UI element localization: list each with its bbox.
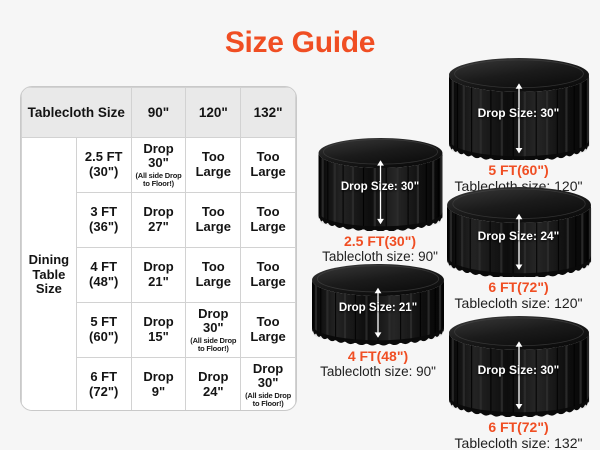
tablecloth-size-example: Drop Size: 30"2.5 FT(30")Tablecloth size… — [305, 136, 455, 264]
table-size-line2: (48") — [89, 274, 118, 289]
header-col-2: 132" — [241, 88, 296, 138]
table-size-caption: 6 FT(72") — [437, 419, 600, 435]
table-size-cell: 3 FT(36") — [76, 193, 131, 248]
table-size-caption: 2.5 FT(30") — [305, 233, 455, 249]
table-size-line2: (72") — [89, 384, 118, 399]
drop-cell-line2: Large — [250, 329, 285, 344]
drop-cell: Drop15" — [131, 303, 186, 358]
drop-cell-line2: Large — [196, 274, 231, 289]
tablecloth-illustration — [309, 136, 452, 231]
tablecloth-illustration — [438, 185, 600, 277]
drop-cell-note: (All side Drop to Floor!) — [133, 172, 185, 189]
drop-cell-line1: Drop — [143, 369, 173, 384]
tablecloth-illustration — [439, 56, 599, 160]
drop-cell: Drop9" — [131, 358, 186, 412]
drop-cell-line1: Too — [202, 204, 225, 219]
drop-cell-line2: 30" — [203, 320, 224, 335]
table-size-cell: 4 FT(48") — [76, 248, 131, 303]
page-title: Size Guide — [0, 26, 600, 60]
drop-cell: TooLarge — [241, 248, 296, 303]
drop-cell-line1: Drop — [198, 369, 228, 384]
header-col-1: 120" — [186, 88, 241, 138]
table-size-line1: 4 FT — [90, 259, 117, 274]
drop-cell-line2: Large — [196, 219, 231, 234]
table-size-cell: 6 FT(72") — [76, 358, 131, 412]
header-col-0: 90" — [131, 88, 186, 138]
drop-cell-note: (All side Drop to Floor!) — [242, 392, 294, 409]
drop-cell-line1: Drop — [143, 259, 173, 274]
table-size-line1: 3 FT — [90, 204, 117, 219]
tablecloth-size-caption: Tablecloth size: 120" — [437, 295, 600, 311]
drop-cell-line2: 15" — [148, 329, 169, 344]
tablecloth-size-caption: Tablecloth size: 90" — [303, 364, 453, 379]
drop-cell-line2: 21" — [148, 274, 169, 289]
table-size-line1: 6 FT — [90, 369, 117, 384]
drop-cell-line1: Drop — [143, 204, 173, 219]
drop-cell-line1: Drop — [143, 314, 173, 329]
table-size-caption: 5 FT(60") — [437, 162, 600, 178]
drop-cell-line2: Large — [250, 164, 285, 179]
drop-cell-line1: Too — [257, 149, 280, 164]
header-tablecloth-size: Tablecloth Size — [22, 88, 132, 138]
drop-cell: Drop24" — [186, 358, 241, 412]
tablecloth-size-example: Drop Size: 24"6 FT(72")Tablecloth size: … — [437, 185, 600, 311]
tablecloth-illustration — [439, 314, 599, 417]
table-size-cell: 2.5 FT(30") — [76, 138, 131, 193]
table-size-cell: 5 FT(60") — [76, 303, 131, 358]
table-header-row: Tablecloth Size90"120"132" — [22, 88, 296, 138]
drop-cell: TooLarge — [241, 138, 296, 193]
tablecloth-illustration — [305, 262, 451, 346]
drop-cell: TooLarge — [186, 138, 241, 193]
table-row: Dining Table Size2.5 FT(30")Drop30"(All … — [22, 138, 296, 193]
drop-cell: Drop27" — [131, 193, 186, 248]
drop-cell-line1: Too — [257, 314, 280, 329]
drop-cell-line1: Drop — [143, 141, 173, 156]
drop-cell: TooLarge — [241, 193, 296, 248]
row-group-label: Dining Table Size — [22, 138, 77, 412]
drop-cell-line1: Drop — [198, 306, 228, 321]
drop-cell-line2: 30" — [258, 375, 279, 390]
table-size-line2: (60") — [89, 329, 118, 344]
tablecloth-size-example: Drop Size: 30"5 FT(60")Tablecloth size: … — [437, 56, 600, 194]
drop-cell-line2: Large — [250, 274, 285, 289]
drop-cell-line2: 9" — [152, 384, 165, 399]
drop-cell-line1: Too — [257, 259, 280, 274]
drop-cell-line1: Drop — [253, 361, 283, 376]
drop-cell: TooLarge — [186, 193, 241, 248]
table-size-line2: (36") — [89, 219, 118, 234]
drop-cell-note: (All side Drop to Floor!) — [187, 337, 239, 354]
tablecloth-size-caption: Tablecloth size: 132" — [437, 435, 600, 450]
drop-cell: Drop21" — [131, 248, 186, 303]
drop-cell-line2: 30" — [148, 155, 169, 170]
drop-cell-line1: Too — [257, 204, 280, 219]
drop-cell-line2: Large — [196, 164, 231, 179]
drop-cell: TooLarge — [186, 248, 241, 303]
drop-cell: TooLarge — [241, 303, 296, 358]
drop-cell-line1: Too — [202, 259, 225, 274]
table-size-line1: 5 FT — [90, 314, 117, 329]
drop-cell: Drop30"(All side Drop to Floor!) — [241, 358, 296, 412]
drop-cell: Drop30"(All side Drop to Floor!) — [186, 303, 241, 358]
size-guide-page: Size Guide Tablecloth Size90"120"132"Din… — [0, 0, 600, 450]
drop-cell-line2: Large — [250, 219, 285, 234]
tablecloth-size-example: Drop Size: 30"6 FT(72")Tablecloth size: … — [437, 314, 600, 450]
drop-cell-line2: 27" — [148, 219, 169, 234]
sizes-table: Tablecloth Size90"120"132"Dining Table S… — [21, 87, 296, 411]
tablecloth-size-example: Drop Size: 21"4 FT(48")Tablecloth size: … — [303, 262, 453, 379]
drop-cell: Drop30"(All side Drop to Floor!) — [131, 138, 186, 193]
drop-cell-line1: Too — [202, 149, 225, 164]
table-size-caption: 4 FT(48") — [303, 348, 453, 364]
table-size-line2: (30") — [89, 164, 118, 179]
table-size-caption: 6 FT(72") — [437, 279, 600, 295]
drop-cell-line2: 24" — [203, 384, 224, 399]
size-chart-table: Tablecloth Size90"120"132"Dining Table S… — [20, 86, 297, 411]
table-size-line1: 2.5 FT — [85, 149, 123, 164]
